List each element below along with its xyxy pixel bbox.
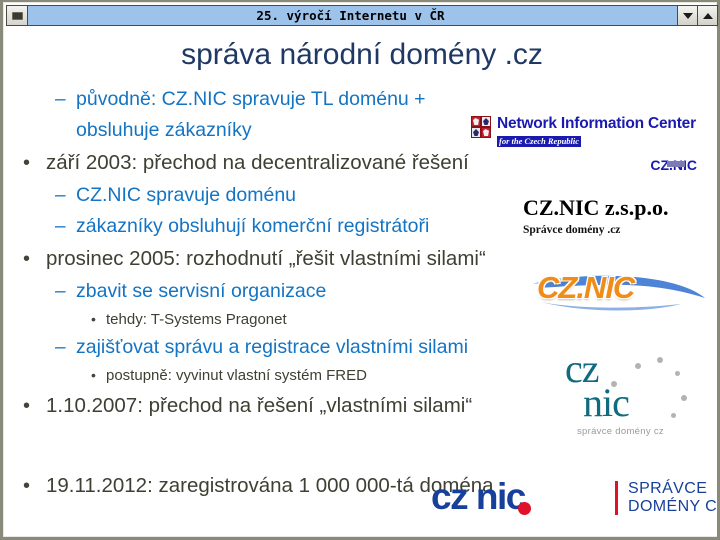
teal-logo-dot [681, 395, 687, 401]
cznic-blue-logo: cz nic SPRÁVCE DOMÉNY CZ [431, 476, 713, 524]
list-marker: • [91, 363, 96, 388]
teal-logo-line2: nic [583, 383, 629, 423]
nic-logo-bar [667, 161, 685, 167]
blue-logo-divider [615, 481, 618, 515]
window-title: 25. výročí Internetu v ČR [28, 6, 677, 25]
list-marker: • [91, 307, 96, 332]
triangle-down-icon [683, 13, 693, 19]
blue-logo-subtitle-line1: SPRÁVCE [628, 480, 707, 498]
teal-logo-dot [657, 357, 663, 363]
system-menu-button[interactable] [7, 6, 28, 25]
zspo-logo-subtitle: Správce domény .cz [523, 224, 713, 236]
list-marker: • [23, 242, 30, 276]
network-information-center-logo: Network Information Center for the Czech… [471, 116, 699, 173]
blue-logo-red-dot-icon [518, 502, 531, 515]
list-item-label: 1.10.2007: přechod na řešení „vlastními … [46, 388, 472, 424]
list-marker: • [23, 468, 30, 504]
list-marker: – [55, 180, 66, 211]
list-item-label: zajišťovat správu a registrace vlastními… [76, 332, 468, 363]
czech-coat-of-arms-icon [471, 116, 492, 140]
slide-canvas: správa národní domény .cz – původně: CZ.… [7, 28, 717, 536]
orange-logo-text: CZ.NIC [537, 270, 713, 306]
list-marker: – [55, 276, 66, 307]
teal-logo-dot [675, 371, 680, 376]
list-marker: • [23, 388, 30, 424]
title-bar: 25. výročí Internetu v ČR [6, 5, 718, 26]
teal-logo-subtitle: správce domény cz [577, 426, 664, 437]
list-marker: – [55, 211, 66, 242]
list-item-label: 19.11.2012: zaregistrována 1 000 000-tá … [46, 468, 494, 504]
cznic-orange-logo: CZ.NIC [531, 268, 707, 316]
teal-logo-dot [635, 363, 641, 369]
teal-logo-dot [671, 413, 676, 418]
nic-logo-subtitle: for the Czech Republic [497, 136, 581, 147]
blue-logo-subtitle-line2: DOMÉNY CZ [628, 498, 717, 516]
presentation-window: 25. výročí Internetu v ČR správa národní… [0, 0, 720, 540]
cznic-teal-logo: cz nic správce domény cz [543, 343, 709, 443]
list-item-label: tehdy: T-Systems Pragonet [106, 307, 287, 332]
list-item-label: CZ.NIC spravuje doménu [76, 180, 296, 211]
zspo-logo-title: CZ.NIC z.s.p.o. [523, 195, 713, 221]
list-item-label: zákazníky obsluhují komerční registrátoř… [76, 211, 429, 242]
restore-button[interactable] [697, 6, 717, 25]
list-item-label: zbavit se servisní organizace [76, 276, 326, 307]
list-item-label: původně: CZ.NIC spravuje TL doménu + [76, 84, 426, 115]
cznic-zspo-logo: CZ.NIC z.s.p.o. Správce domény .cz [523, 195, 713, 236]
minimize-button[interactable] [677, 6, 697, 25]
list-marker: • [23, 146, 30, 180]
nic-logo-brand: CZ.NIC [471, 157, 699, 173]
system-menu-icon [12, 12, 23, 20]
list-marker: – [55, 84, 66, 115]
list-marker: – [55, 332, 66, 363]
list-item-label: prosinec 2005: rozhodnutí „řešit vlastní… [46, 242, 486, 276]
list-item-label: postupně: vyvinut vlastní systém FRED [106, 363, 367, 388]
teal-logo-dot [611, 381, 617, 387]
slide-title: správa národní domény .cz [7, 38, 717, 72]
blue-logo-wordmark: cz nic [431, 476, 525, 518]
triangle-up-icon [703, 13, 713, 19]
nic-logo-title: Network Information Center [497, 116, 696, 131]
list-item-label: září 2003: přechod na decentralizované ř… [46, 146, 469, 180]
